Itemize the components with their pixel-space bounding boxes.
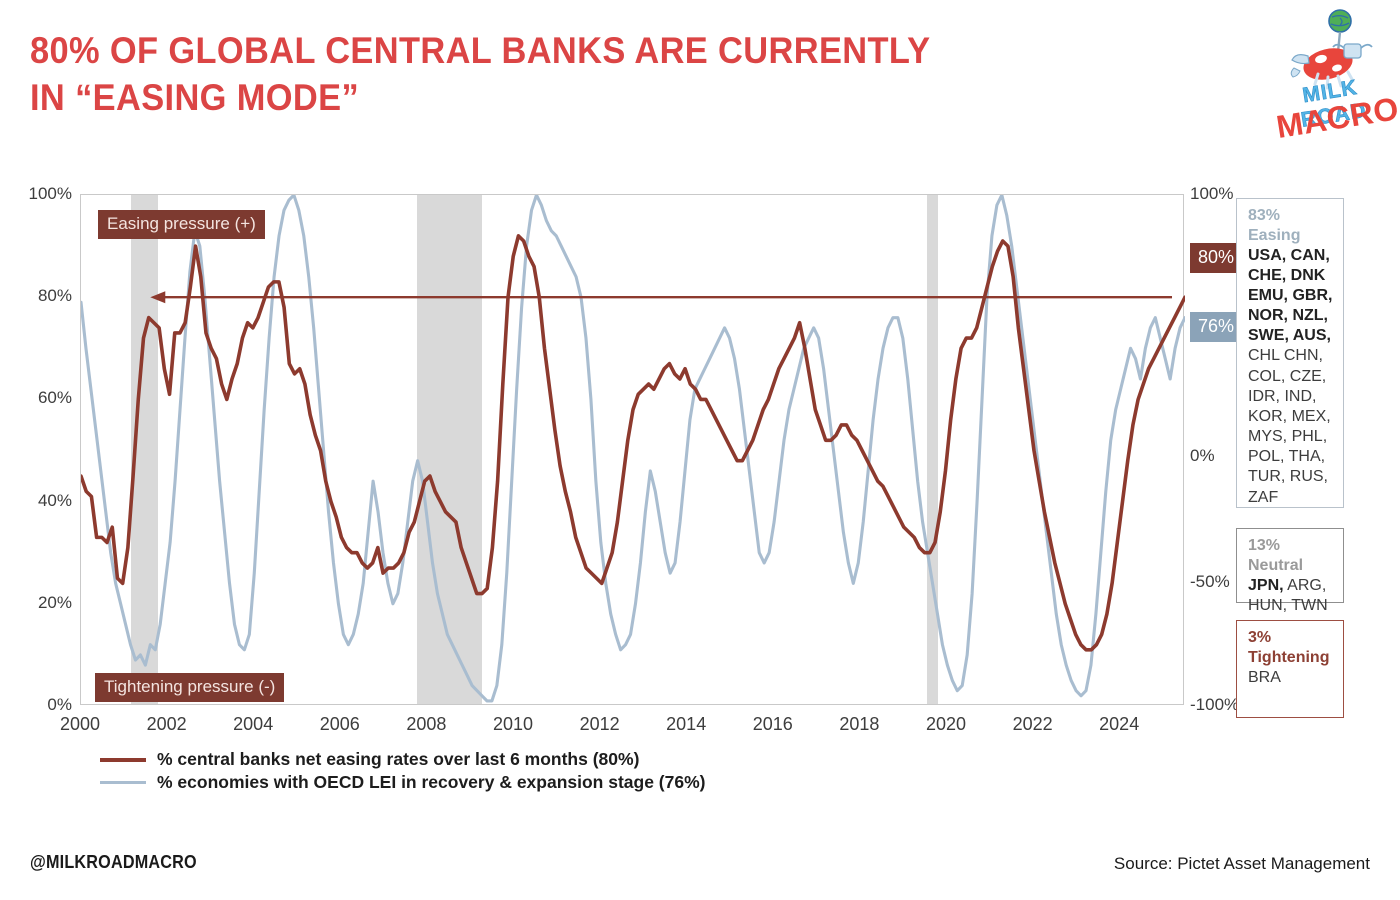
y-tick-right: -50% xyxy=(1190,572,1230,592)
x-tick: 2004 xyxy=(233,714,273,735)
x-tick: 2002 xyxy=(147,714,187,735)
y-tick-left: 40% xyxy=(38,491,72,511)
y-tick-right: -100% xyxy=(1190,695,1239,715)
panel-tightening-heading: 3% Tightening xyxy=(1248,628,1334,668)
social-handle: @MILKROADMACRO xyxy=(30,852,197,873)
y-tick-left: 60% xyxy=(38,388,72,408)
series-line-oecd-lei xyxy=(81,195,1185,701)
y-tick-right: 100% xyxy=(1190,184,1233,204)
value-badge-easing: 80% xyxy=(1190,243,1242,273)
x-tick: 2020 xyxy=(926,714,966,735)
y-tick-left: 0% xyxy=(47,695,72,715)
x-tick: 2024 xyxy=(1099,714,1139,735)
easing-pressure-label: Easing pressure (+) xyxy=(98,210,265,239)
x-tick: 2018 xyxy=(839,714,879,735)
panel-easing: 83% Easing USA, CAN, CHE, DNK EMU, GBR, … xyxy=(1236,198,1344,508)
y-axis-left: 100% 80% 60% 40% 20% 0% xyxy=(0,194,72,705)
legend-swatch-red xyxy=(100,758,146,762)
milk-road-macro-logo: MILK ROAD MACRO xyxy=(1268,8,1392,140)
y-tick-right: 0% xyxy=(1190,446,1215,466)
panel-easing-bold-list: USA, CAN, CHE, DNK EMU, GBR, NOR, NZL, S… xyxy=(1248,247,1332,345)
panel-neutral: 13% Neutral JPN, ARG, HUN, TWN xyxy=(1236,528,1344,603)
x-tick: 2014 xyxy=(666,714,706,735)
page-title-line-1: 80% of global central banks are currentl… xyxy=(30,28,1007,75)
panel-neutral-bold-list: JPN, xyxy=(1248,577,1284,594)
legend-item-central-banks: % central banks net easing rates over la… xyxy=(100,748,706,771)
y-tick-left: 20% xyxy=(38,593,72,613)
y-tick-left: 80% xyxy=(38,286,72,306)
chart-series-canvas xyxy=(81,195,1185,706)
tightening-pressure-label: Tightening pressure (-) xyxy=(95,673,284,702)
panel-neutral-heading: 13% Neutral xyxy=(1248,536,1334,576)
page-title: 80% of global central banks are currentl… xyxy=(30,28,1007,122)
legend-label-oecd-lei: % economies with OECD LEI in recovery & … xyxy=(157,772,706,793)
x-tick: 2010 xyxy=(493,714,533,735)
x-axis: 2000 2002 2004 2006 2008 2010 2012 2014 … xyxy=(80,714,1184,740)
panel-tightening-body: BRA xyxy=(1248,668,1334,688)
panel-tightening: 3% Tightening BRA xyxy=(1236,620,1344,718)
chart-legend: % central banks net easing rates over la… xyxy=(100,748,706,794)
x-tick: 2012 xyxy=(580,714,620,735)
source-attribution: Source: Pictet Asset Management xyxy=(1114,854,1370,874)
x-tick: 2022 xyxy=(1013,714,1053,735)
page-title-line-2: in “easing mode” xyxy=(30,75,1007,122)
legend-swatch-blue xyxy=(100,781,146,784)
panel-neutral-body: JPN, ARG, HUN, TWN xyxy=(1248,576,1334,616)
x-tick: 2016 xyxy=(753,714,793,735)
x-tick: 2008 xyxy=(406,714,446,735)
y-tick-left: 100% xyxy=(29,184,72,204)
chart-plot-area xyxy=(80,194,1184,705)
legend-label-central-banks: % central banks net easing rates over la… xyxy=(157,749,639,770)
legend-item-oecd-lei: % economies with OECD LEI in recovery & … xyxy=(100,771,706,794)
value-badge-lei: 76% xyxy=(1190,312,1242,342)
x-tick: 2000 xyxy=(60,714,100,735)
x-tick: 2006 xyxy=(320,714,360,735)
panel-easing-body: USA, CAN, CHE, DNK EMU, GBR, NOR, NZL, S… xyxy=(1248,246,1334,508)
panel-easing-heading: 83% Easing xyxy=(1248,206,1334,246)
panel-easing-rest-list: CHL CHN, COL, CZE, IDR, IND, KOR, MEX, M… xyxy=(1248,347,1331,505)
